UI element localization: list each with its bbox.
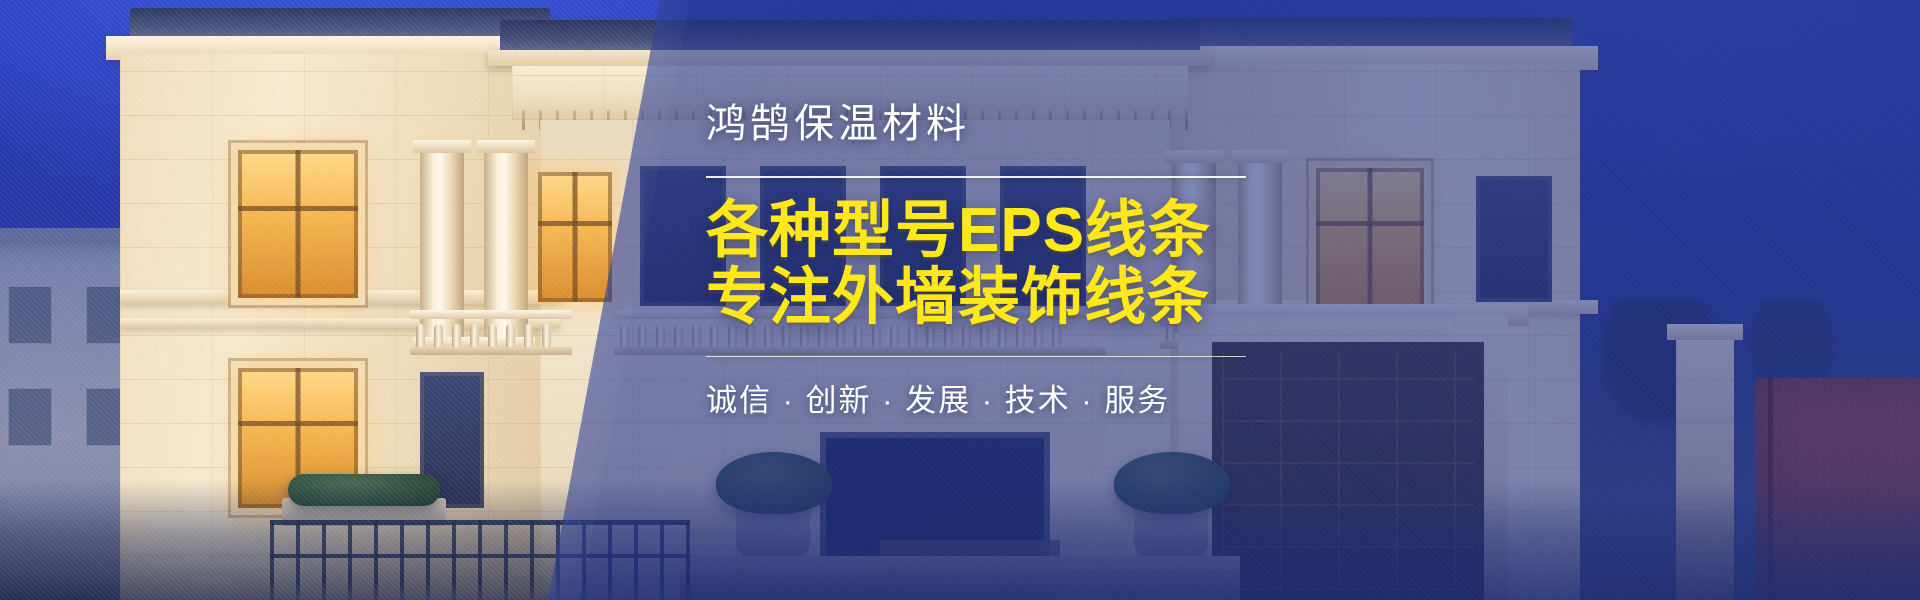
headline-line-2: 专注外墙装饰线条 [706,265,1246,332]
glowing-window [238,150,358,298]
tagline: 诚信 · 创新 · 发展 · 技术 · 服务 [706,375,1246,420]
balustrade [416,318,566,348]
headline-line-1: 各种型号EPS线条 [706,196,1211,265]
divider-top [706,176,1246,178]
headline: 各种型号EPS线条 专注外墙装饰线条 [706,198,1246,332]
brand-name: 鸿鹄保温材料 [706,104,1246,144]
banner-text-block: 鸿鹄保温材料 各种型号EPS线条 专注外墙装饰线条 诚信 · 创新 · 发展 ·… [706,104,1246,420]
divider-bottom [706,356,1246,357]
glowing-window [538,172,612,302]
promo-banner: 鸿鹄保温材料 各种型号EPS线条 专注外墙装饰线条 诚信 · 创新 · 发展 ·… [0,0,1920,600]
